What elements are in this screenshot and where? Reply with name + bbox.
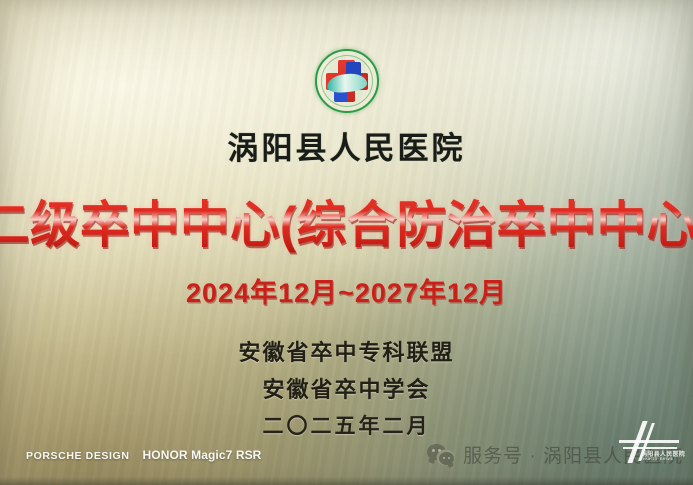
issuer-line: 安徽省卒中学会 [262, 372, 430, 404]
issuing-organizations: 安徽省卒中专科联盟 安徽省卒中学会 [238, 335, 454, 404]
wechat-dot [443, 457, 446, 460]
issuer-line: 安徽省卒中专科联盟 [238, 335, 454, 367]
wechat-account-watermark: 服务号 · 涡阳县人民医院 [427, 441, 683, 468]
wechat-bubble-small [439, 452, 454, 465]
bottom-edge-shade [0, 477, 693, 485]
page-title: 二级卒中中心(综合防治卒中中心) [0, 185, 693, 257]
issue-date: 二〇二五年二月 [263, 410, 431, 440]
wechat-dot [448, 457, 451, 460]
phone-watermark-brand: PORSCHE DESIGN [26, 450, 130, 462]
phone-watermark: PORSCHE DESIGN HONOR Magic7 RSR [26, 448, 261, 462]
wechat-account-label: 服务号 · 涡阳县人民医院 [463, 441, 683, 468]
plaque-content: 涡阳县人民医院 二级卒中中心(综合防治卒中中心) 2024年12月~2027年1… [0, 0, 693, 485]
hospital-name: 涡阳县人民医院 [228, 123, 466, 168]
wechat-icon [427, 444, 454, 465]
hospital-emblem-icon [315, 49, 379, 113]
phone-watermark-model: HONOR Magic7 RSR [143, 448, 262, 462]
screenshot-root: 涡阳县人民医院 二级卒中中心(综合防治卒中中心) 2024年12月~2027年1… [0, 0, 693, 485]
validity-date-range: 2024年12月~2027年12月 [186, 271, 507, 310]
